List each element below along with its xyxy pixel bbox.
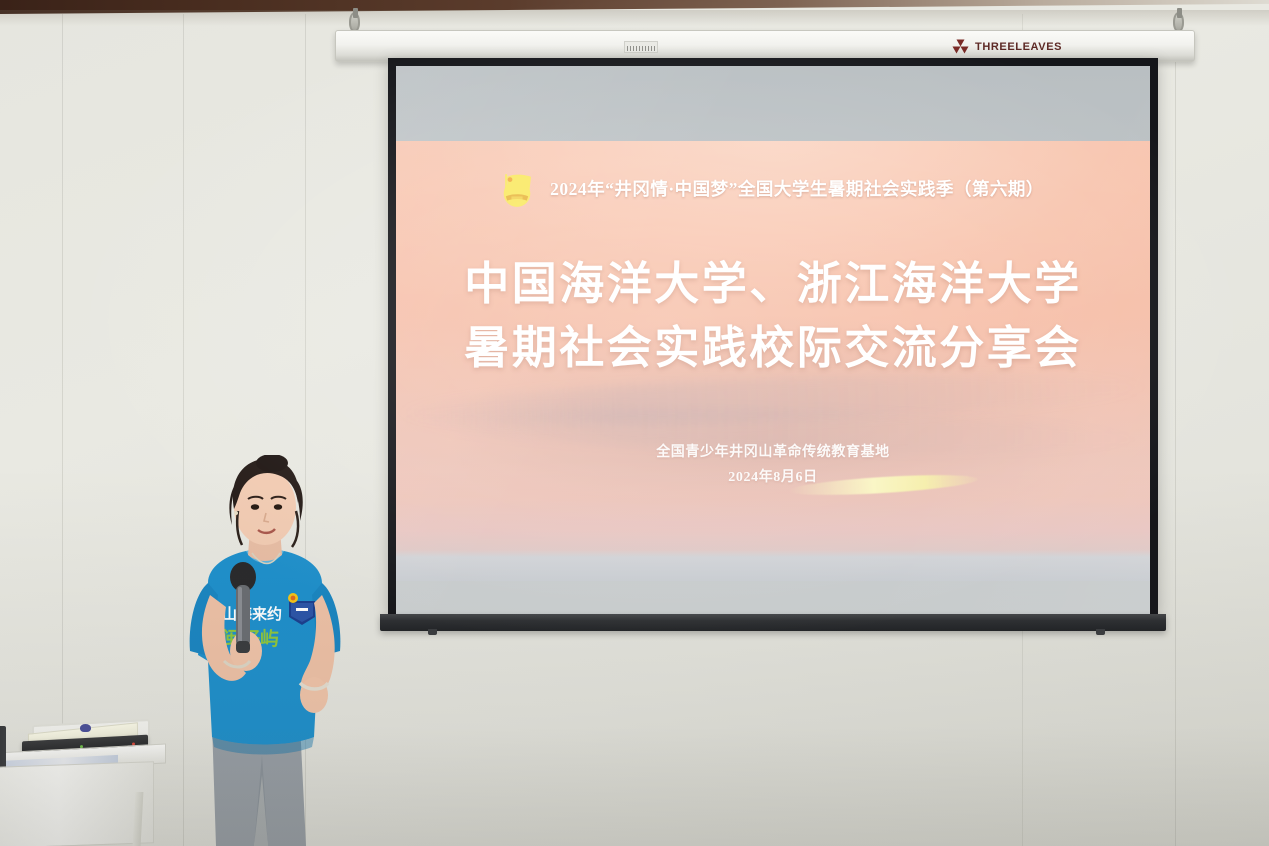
eye-left — [251, 504, 259, 510]
slide-main-title: 中国海洋大学、浙江海洋大学 暑期社会实践校际交流分享会 — [396, 253, 1150, 381]
screen-mount-bracket-left — [349, 12, 360, 32]
conference-room-scene: THREELEAVES — [0, 0, 1269, 846]
slide-footer: 全国青少年井冈山革命传统教育基地 2024年8月6日 — [396, 441, 1150, 490]
mount-stem — [353, 8, 358, 18]
youth-league-flag-emblem-icon — [496, 167, 538, 209]
hand-right — [300, 677, 328, 713]
screen-mount-bracket-right — [1173, 12, 1184, 32]
slide-footer-venue: 全国青少年井冈山革命传统教育基地 — [396, 441, 1150, 466]
shirt-text-top: 山海来约 — [222, 605, 282, 623]
projection-screen-frame: 2024年“井冈情·中国梦”全国大学生暑期社会实践季（第六期） 中国海洋大学、浙… — [388, 58, 1158, 614]
weight-bar-tab — [1096, 629, 1105, 635]
weight-bar-tab — [428, 629, 437, 635]
slide-title-line-2: 暑期社会实践校际交流分享会 — [396, 317, 1150, 381]
slide-title-line-1: 中国海洋大学、浙江海洋大学 — [396, 253, 1150, 317]
trefoil-three-leaves-icon — [952, 39, 969, 54]
slide-footer-date: 2024年8月6日 — [396, 466, 1150, 491]
screen-brand-label: THREELEAVES — [952, 39, 1062, 54]
screen-brand-text: THREELEAVES — [975, 41, 1062, 53]
projected-slide: 2024年“井冈情·中国梦”全国大学生暑期社会实践季（第六期） 中国海洋大学、浙… — [396, 141, 1150, 581]
earring — [234, 511, 238, 515]
casing-barcode-sticker — [624, 41, 658, 53]
slide-header-band: 2024年“井冈情·中国梦”全国大学生暑期社会实践季（第六期） — [396, 163, 1150, 213]
eye-right — [274, 504, 282, 510]
slide-header-title: 2024年“井冈情·中国梦”全国大学生暑期社会实践季（第六期） — [550, 176, 1044, 201]
projector-screen-unit[interactable]: THREELEAVES — [335, 12, 1195, 637]
projection-screen-surface[interactable]: 2024年“井冈情·中国梦”全国大学生暑期社会实践季（第六期） 中国海洋大学、浙… — [396, 66, 1150, 614]
screen-weight-bar — [380, 614, 1166, 631]
floor-shadow — [0, 726, 1269, 846]
mount-stem — [1177, 8, 1182, 18]
